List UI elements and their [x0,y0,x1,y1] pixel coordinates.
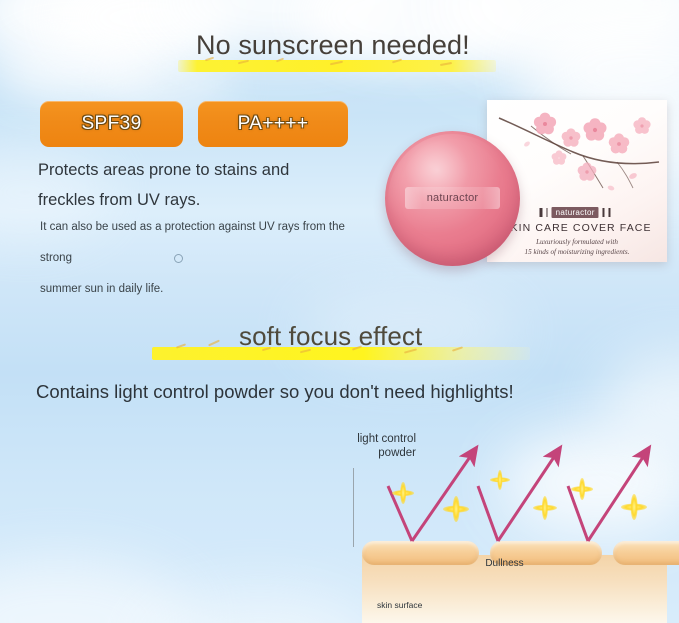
top-body-main: Protects areas prone to stains and freck… [38,155,368,215]
sparkle-icon [443,496,469,522]
page-title-bottom: soft focus effect [239,321,422,352]
sparkle-icon [571,478,593,500]
compact-brand-plate: naturactor [405,187,500,209]
sparkle-icon [490,470,510,490]
top-body-small-line1: It can also be used as a protection agai… [40,212,380,274]
top-body-main-line2: freckles from UV rays. [38,185,368,215]
page-title-top: No sunscreen needed! [196,30,470,61]
label-powder-line1: light control [334,432,416,446]
barcode-bar-icon [608,208,611,217]
spf-badge-label: SPF39 [81,113,141,135]
circle-artifact-icon [174,254,183,263]
pa-badge-label: PA++++ [238,113,309,135]
label-skin-surface: skin surface [377,600,422,610]
compact-case: naturactor [385,131,520,266]
label-powder-line2: powder [334,446,416,460]
box-brand-label: naturactor [552,207,599,218]
sparkle-icon [621,494,647,520]
pa-badge[interactable]: PA++++ [198,101,348,147]
top-body-small: It can also be used as a protection agai… [40,212,380,305]
box-tagline: Luxuriously formulated with 15 kinds of … [487,237,667,257]
sparkle-icon [533,496,557,520]
box-tagline-line1: Luxuriously formulated with [487,237,667,247]
subheading: Contains light control powder so you don… [36,381,514,403]
spf-badge[interactable]: SPF39 [40,101,183,147]
label-dullness: Dullness [330,558,679,569]
top-body-small-line2: summer sun in daily life. [40,274,380,305]
barcode-bar-icon [603,208,605,217]
box-brand-row: naturactor [540,207,611,218]
sparkle-icon [392,482,414,504]
barcode-bar-icon [540,208,543,217]
top-body-main-line1: Protects areas prone to stains and [38,155,368,185]
promo-page: No sunscreen needed! SPF39 PA++++ Protec… [0,0,679,623]
label-light-control-powder: light control powder [334,432,416,460]
light-reflection-diagram: light control powder Dullness skin surfa… [330,424,679,623]
barcode-bar-icon [546,208,548,217]
box-tagline-line2: 15 kinds of moisturizing ingredients. [487,247,667,257]
compact-brand-label: naturactor [427,192,479,204]
